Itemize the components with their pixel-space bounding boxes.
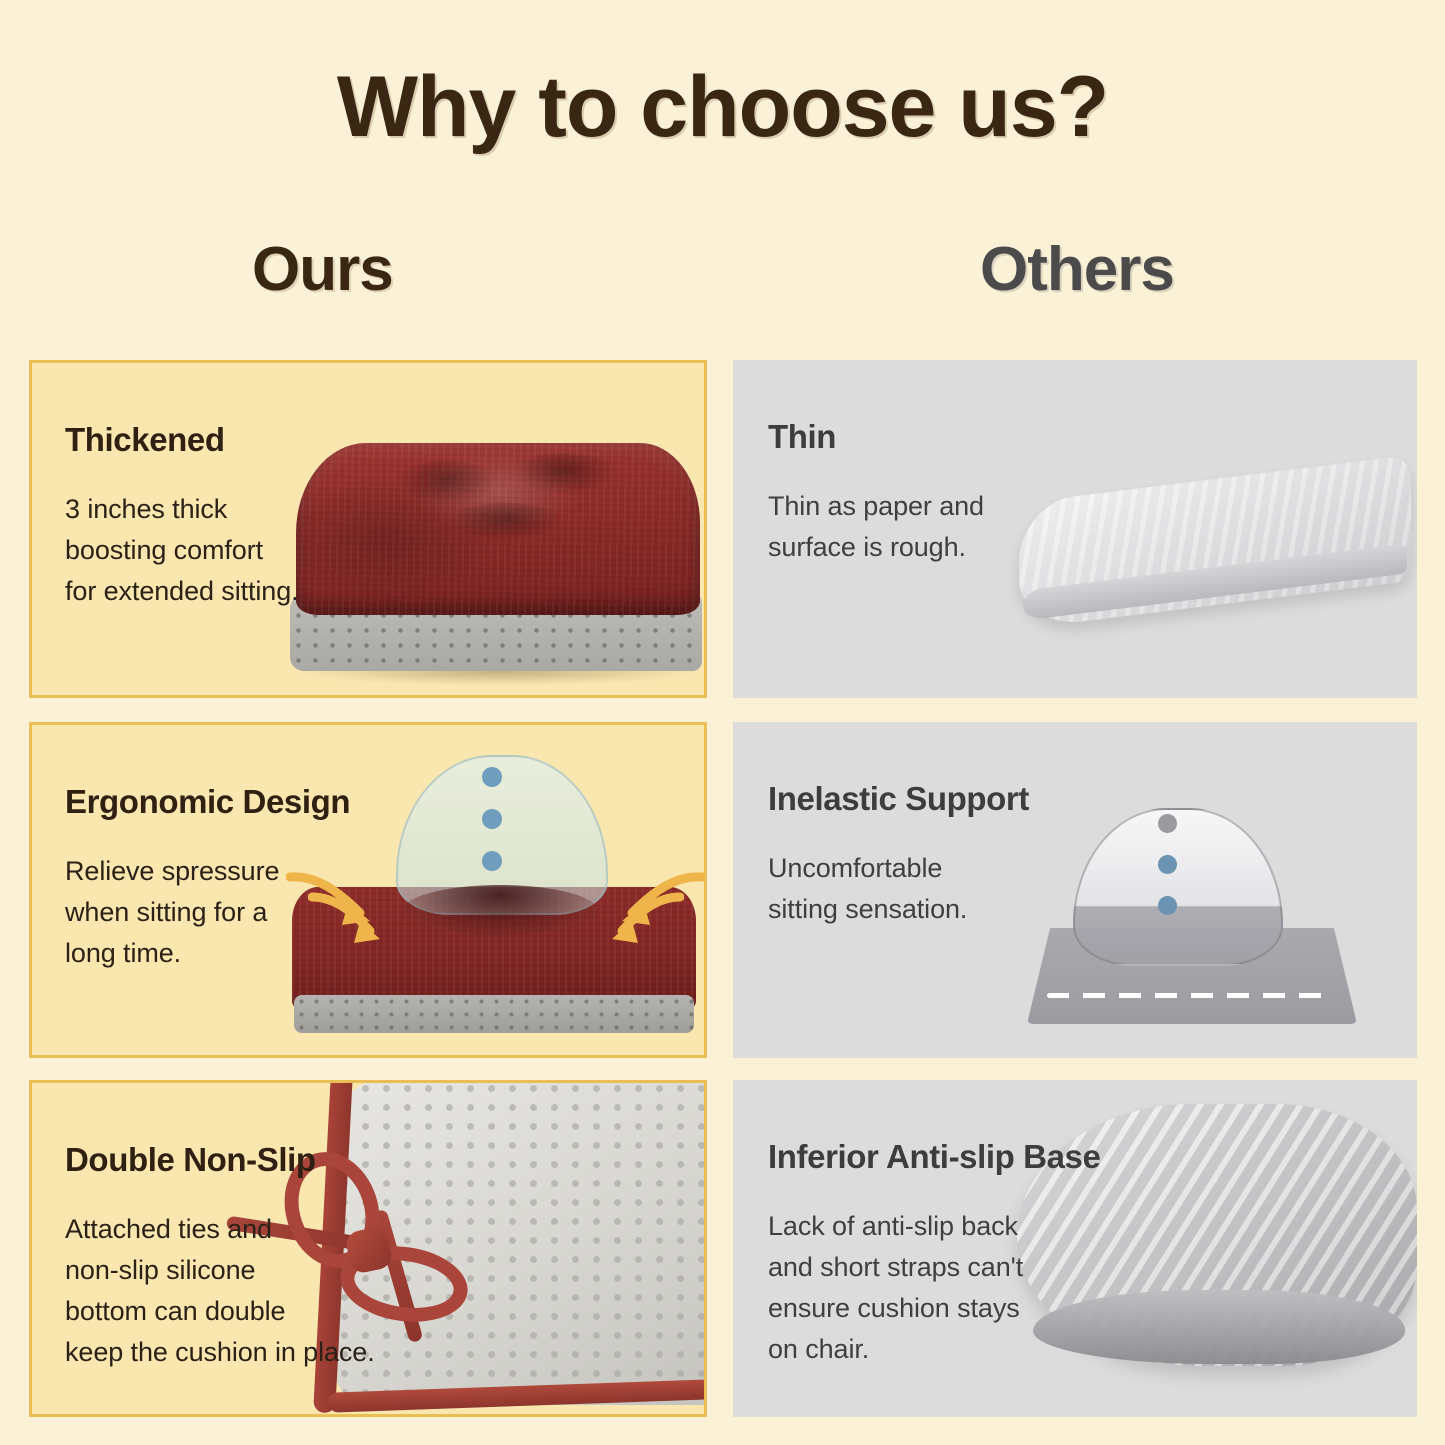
ergonomic-diagram-image <box>292 749 700 1049</box>
card-text-block: Thin Thin as paper and surface is rough. <box>768 418 984 568</box>
card-body-line: sitting sensation. <box>768 889 1029 930</box>
card-title: Thin <box>768 418 984 456</box>
tuft-dimple <box>508 453 620 497</box>
pressure-dots-group <box>1158 814 1177 937</box>
card-body-line: Thin as paper and <box>768 486 984 527</box>
tuft-dimple <box>392 461 502 507</box>
thin-gray-pad-image <box>1019 471 1411 646</box>
card-body-line: non-slip silicone <box>65 1250 375 1291</box>
pressure-dot-icon <box>1158 814 1177 833</box>
card-body-line: Uncomfortable <box>768 848 1029 889</box>
card-title: Ergonomic Design <box>65 783 350 821</box>
card-body-line: Relieve spressure <box>65 851 350 892</box>
cushion-red-top <box>296 443 700 615</box>
card-title: Thickened <box>65 421 299 459</box>
page-title: Why to choose us? <box>0 58 1445 157</box>
pressure-dots-group <box>482 767 502 893</box>
card-body-line: boosting comfort <box>65 530 299 571</box>
card-text-block: Inferior Anti-slip Base Lack of anti-sli… <box>768 1138 1100 1370</box>
card-others-thin: Thin Thin as paper and surface is rough. <box>733 360 1417 698</box>
card-body: Lack of anti-slip back and short straps … <box>768 1206 1100 1370</box>
card-body-line: Attached ties and <box>65 1209 375 1250</box>
inelastic-diagram-image <box>1027 792 1357 1024</box>
card-body-line: when sitting for a <box>65 892 350 933</box>
card-body: Attached ties and non-slip silicone bott… <box>65 1209 375 1373</box>
card-title: Inferior Anti-slip Base <box>768 1138 1100 1176</box>
pressure-dot-icon <box>482 767 502 787</box>
card-ours-thickened: Thickened 3 inches thick boosting comfor… <box>29 360 707 698</box>
card-title: Double Non-Slip <box>65 1141 375 1179</box>
card-body-line: keep the cushion in place. <box>65 1332 375 1373</box>
card-body: Relieve spressure when sitting for a lon… <box>65 851 350 974</box>
card-ours-ergonomic: Ergonomic Design Relieve spressure when … <box>29 722 707 1058</box>
card-body-line: on chair. <box>768 1329 1100 1370</box>
pressure-dot-icon <box>1158 855 1177 874</box>
infographic-page: Why to choose us? Ours Others Thickened … <box>0 0 1445 1445</box>
card-ours-double-nonslip: Double Non-Slip Attached ties and non-sl… <box>29 1080 707 1417</box>
card-text-block: Inelastic Support Uncomfortable sitting … <box>768 780 1029 930</box>
pressure-dot-icon <box>482 851 502 871</box>
pressure-arrow-right-icon <box>584 891 684 955</box>
column-header-ours: Ours <box>252 234 393 305</box>
card-text-block: Thickened 3 inches thick boosting comfor… <box>65 421 299 612</box>
tuft-dimple <box>446 503 566 543</box>
pressure-dot-icon <box>482 809 502 829</box>
card-body: Uncomfortable sitting sensation. <box>768 848 1029 930</box>
card-text-block: Double Non-Slip Attached ties and non-sl… <box>65 1141 375 1373</box>
thick-red-cushion-image <box>290 429 707 698</box>
card-others-inelastic: Inelastic Support Uncomfortable sitting … <box>733 722 1417 1058</box>
card-body-line: 3 inches thick <box>65 489 299 530</box>
ergonomic-nonslip-base <box>294 995 694 1033</box>
card-body-line: for extended sitting. <box>65 571 299 612</box>
card-body: 3 inches thick boosting comfort for exte… <box>65 489 299 612</box>
dashed-line <box>1047 993 1333 998</box>
card-body-line: and short straps can't <box>768 1247 1100 1288</box>
card-body-line: long time. <box>65 933 350 974</box>
card-body-line: bottom can double <box>65 1291 375 1332</box>
card-others-inferior-base: Inferior Anti-slip Base Lack of anti-sli… <box>733 1080 1417 1417</box>
column-header-others: Others <box>980 234 1174 305</box>
body-silhouette <box>1073 808 1283 966</box>
card-body: Thin as paper and surface is rough. <box>768 486 984 568</box>
card-text-block: Ergonomic Design Relieve spressure when … <box>65 783 350 974</box>
card-body-line: Lack of anti-slip back <box>768 1206 1100 1247</box>
card-title: Inelastic Support <box>768 780 1029 818</box>
card-body-line: surface is rough. <box>768 527 984 568</box>
card-body-line: ensure cushion stays <box>768 1288 1100 1329</box>
pressure-dot-icon <box>1158 896 1177 915</box>
